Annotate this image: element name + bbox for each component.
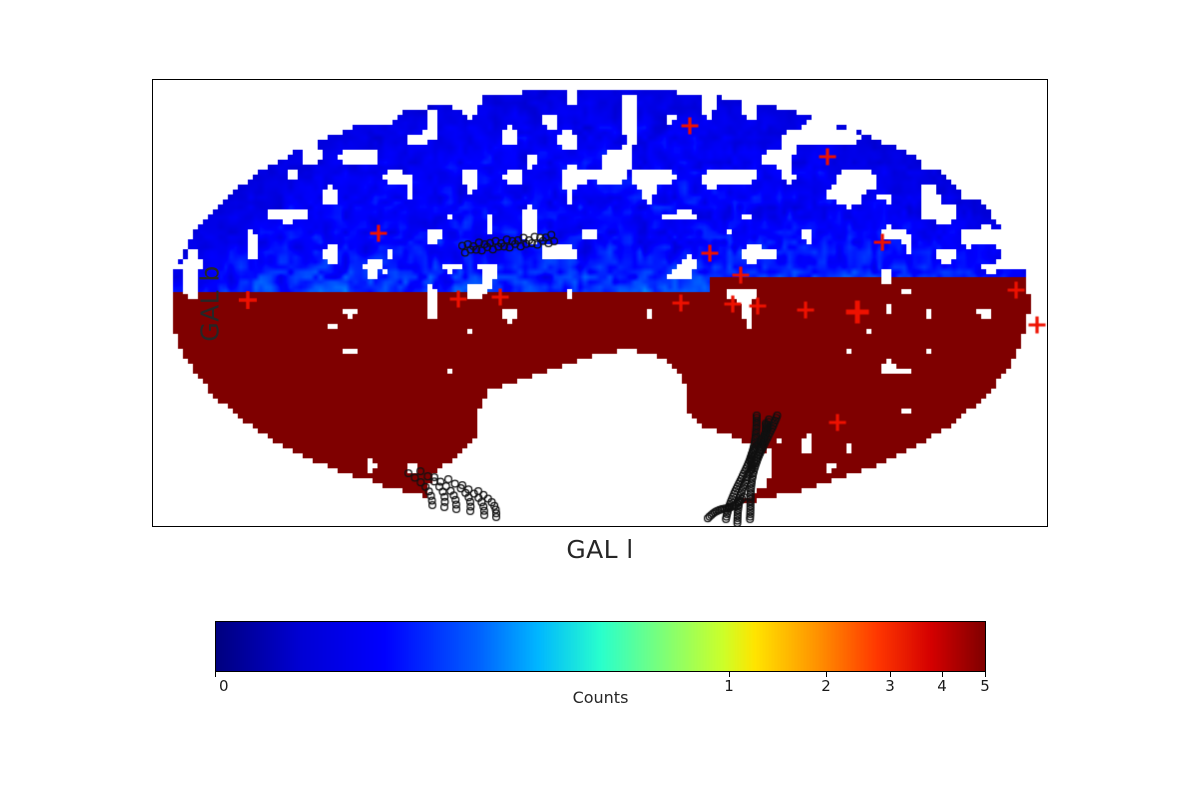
colorbar-gradient xyxy=(215,621,986,672)
y-axis-label-text: GAL b xyxy=(195,265,224,341)
colorbar-tick-mark xyxy=(215,672,216,677)
colorbar-title: Counts xyxy=(215,688,986,707)
sky-density-heatmap xyxy=(153,80,1047,526)
figure-canvas: GAL b GAL l 012345 Counts xyxy=(0,0,1200,800)
colorbar-axes[interactable] xyxy=(215,621,986,672)
y-axis-label: GAL b xyxy=(108,79,248,527)
sky-map-axes[interactable] xyxy=(152,79,1048,527)
x-axis-label: GAL l xyxy=(152,528,1048,564)
